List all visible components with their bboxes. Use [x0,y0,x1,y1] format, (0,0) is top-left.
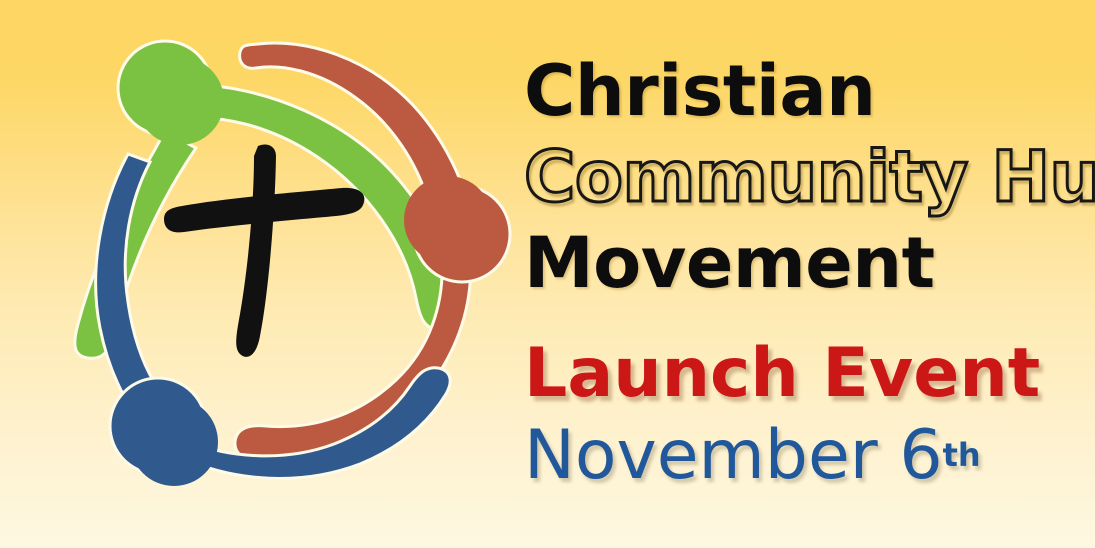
headline-line-community-hub: Community Hub [524,142,1084,212]
event-date-text: November 6 [524,416,943,495]
event-date-ordinal-suffix: th [943,436,981,474]
christian-community-hub-logo [30,6,540,526]
event-date: November 6th [524,422,1084,490]
headline-line-movement: Movement [524,228,1084,298]
headline-line-christian: Christian [524,56,1084,126]
banner-text-block: Christian Community Hub Movement Launch … [524,56,1084,490]
event-banner: Christian Community Hub Movement Launch … [0,0,1095,548]
event-title: Launch Event [524,340,1084,408]
logo-cross-icon [164,144,364,356]
